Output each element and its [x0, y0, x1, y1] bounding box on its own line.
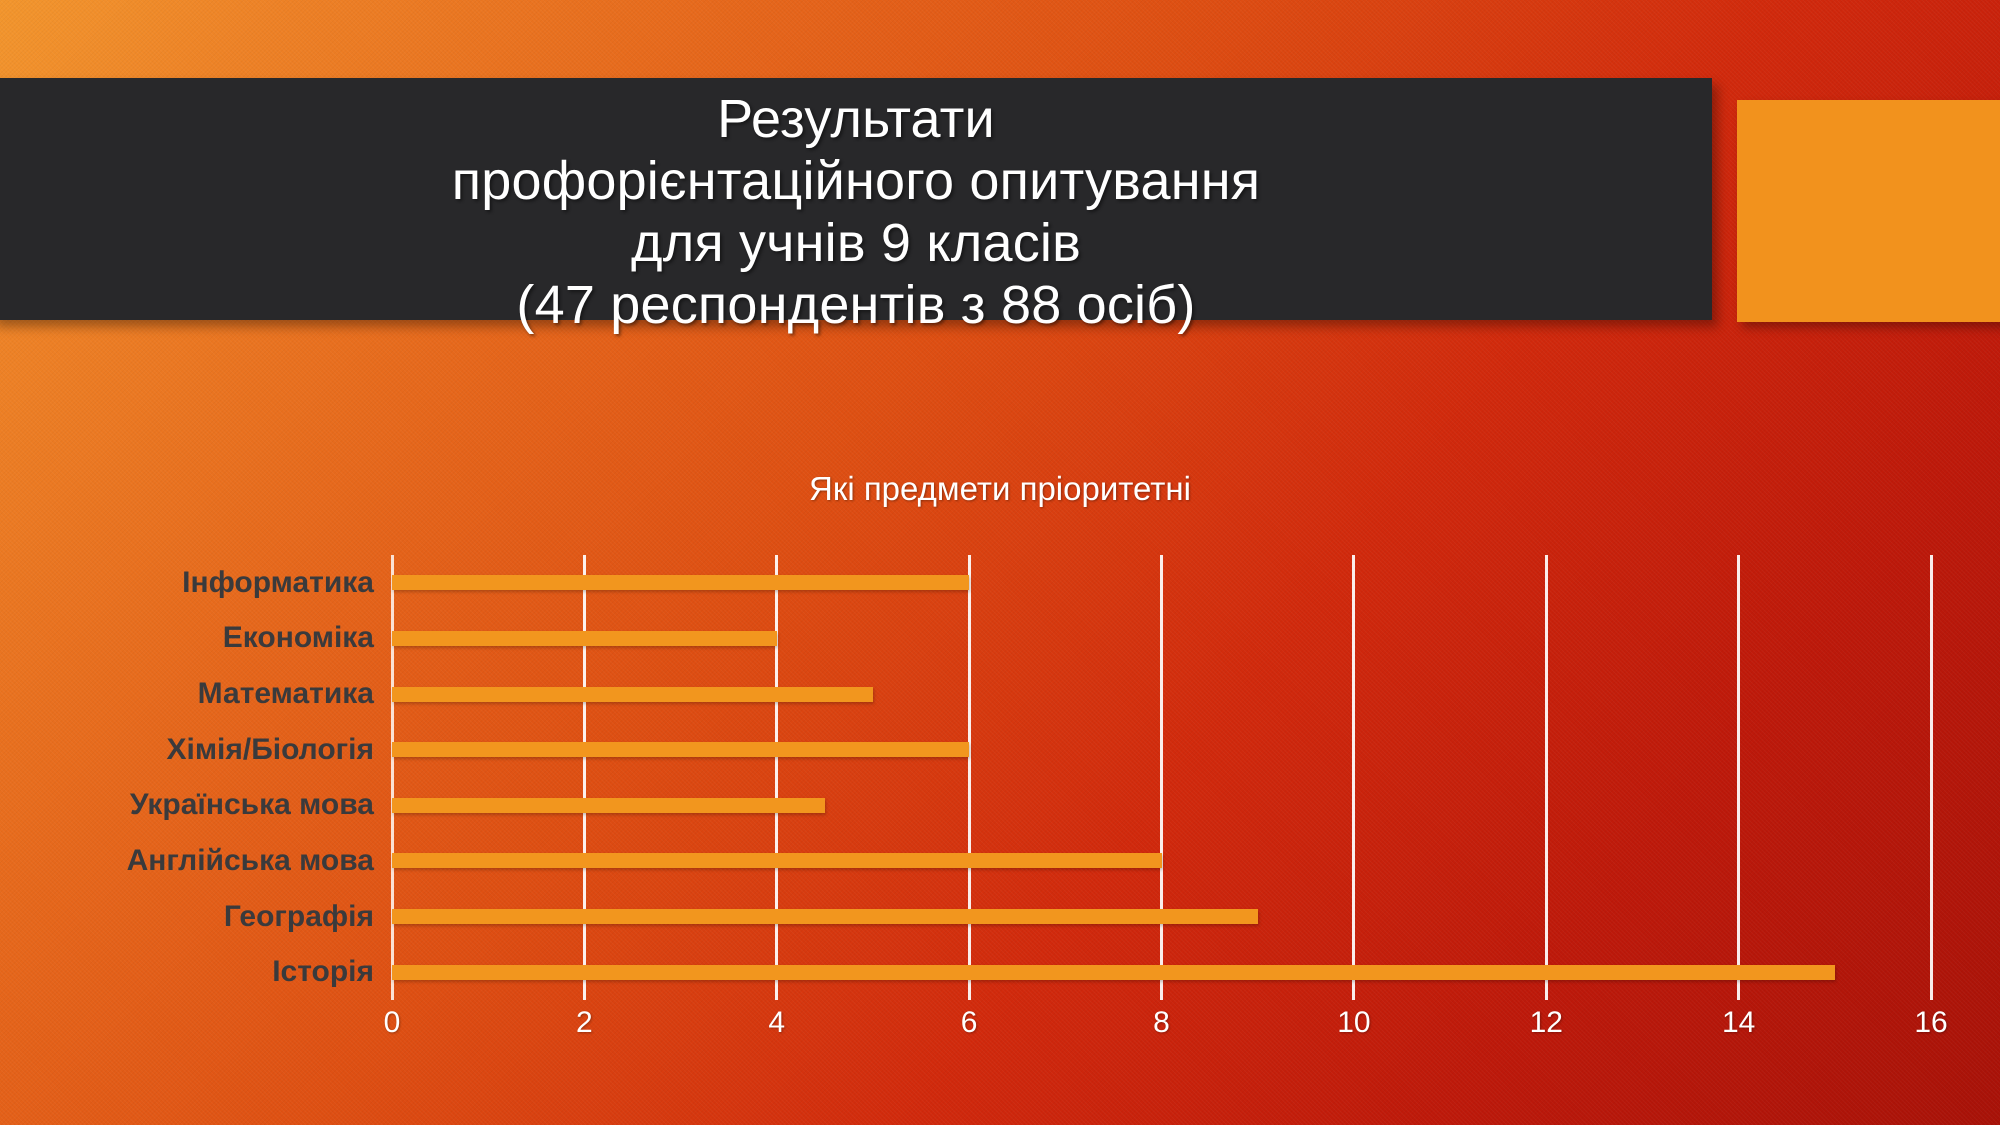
bar [392, 742, 969, 757]
category-label: Економіка [34, 621, 374, 655]
x-tick-label: 10 [1314, 1006, 1394, 1040]
x-tick-label: 2 [544, 1006, 624, 1040]
chart-category-axis: ІнформатикаЕкономікаМатематикаХімія/Біол… [26, 555, 374, 1000]
slide: Результати профорієнтаційного опитування… [0, 0, 2000, 1125]
gridline-2 [583, 555, 586, 1000]
chart-plot-area [392, 555, 1931, 1000]
category-label: Історія [34, 955, 374, 989]
x-tick-label: 12 [1506, 1006, 1586, 1040]
bar [392, 798, 825, 813]
category-label: Хімія/Біологія [34, 733, 374, 767]
gridline-14 [1737, 555, 1740, 1000]
gridline-0 [391, 555, 394, 1000]
gridline-8 [1160, 555, 1163, 1000]
x-tick-label: 8 [1122, 1006, 1202, 1040]
x-tick-label: 4 [737, 1006, 817, 1040]
x-tick-label: 14 [1699, 1006, 1779, 1040]
category-label: Інформатика [34, 566, 374, 600]
gridline-4 [775, 555, 778, 1000]
bar [392, 631, 777, 646]
gridline-12 [1545, 555, 1548, 1000]
chart-title: Які предмети пріоритетні [0, 470, 2000, 508]
category-label: Українська мова [34, 788, 374, 822]
category-label: Англійська мова [34, 844, 374, 878]
bar [392, 575, 969, 590]
bar [392, 909, 1258, 924]
category-label: Географія [34, 900, 374, 934]
bar [392, 687, 873, 702]
gridline-10 [1352, 555, 1355, 1000]
gridline-6 [968, 555, 971, 1000]
x-tick-label: 0 [352, 1006, 432, 1040]
gridline-16 [1930, 555, 1933, 1000]
category-label: Математика [34, 677, 374, 711]
x-tick-label: 16 [1891, 1006, 1971, 1040]
bar [392, 965, 1835, 980]
bar [392, 853, 1162, 868]
x-tick-label: 6 [929, 1006, 1009, 1040]
bar-chart: Які предмети пріоритетні ІнформатикаЕкон… [0, 0, 2000, 1125]
